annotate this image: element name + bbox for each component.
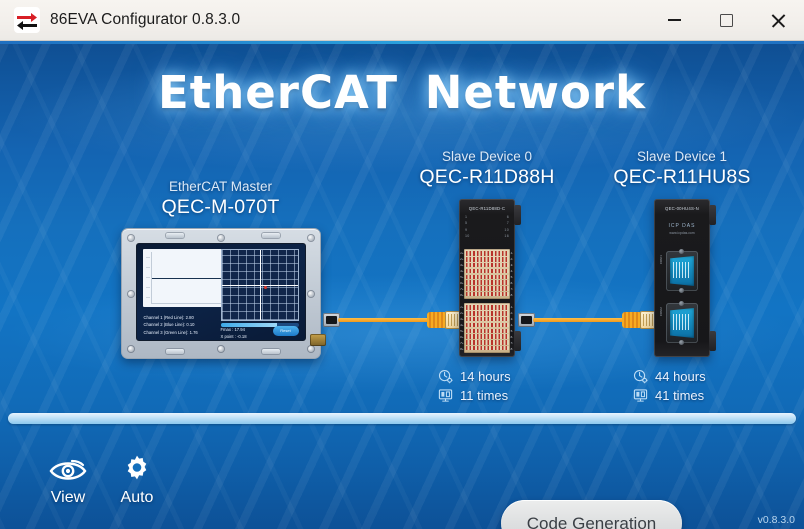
maximize-icon (720, 14, 733, 27)
count-value: 41 times (655, 386, 704, 405)
slave1-stats: 44 hours 41 times (597, 367, 767, 405)
slave0-model-label: QEC-R11D88H (402, 166, 572, 188)
grid-cursor-point (264, 286, 267, 289)
panel-screw (128, 291, 134, 297)
slave1-role-label: Slave Device 1 (597, 149, 767, 165)
device-node-master[interactable]: EtherCAT Master QEC-M-070T (118, 179, 323, 359)
app-window: 86EVA Configurator 0.8.3.0 EtherCAT Netw… (0, 0, 804, 529)
panel-screw (218, 346, 224, 352)
slave0-terminal-block-lower: 1+2+ 3+4+ 5+6+ 7+8+ 1-2- 3-4- 5-6- 7-8- (464, 303, 510, 353)
view-button-label: View (31, 489, 105, 507)
port-pins (673, 262, 691, 278)
slave1-serial-port-1: COM 1 (666, 251, 698, 291)
version-label: v0.8.3.0 (758, 514, 795, 526)
port-screw (679, 288, 684, 293)
slave1-port1-label: COM 1 (659, 255, 663, 264)
counter-display-icon (438, 388, 453, 403)
plot-tick (146, 287, 150, 288)
stat-row-uptime: 14 hours (438, 367, 572, 386)
terminal-left-labels: 1+2+ 3+4+ 5+6+ 7+8+ (460, 249, 464, 299)
channel-legend-row: Channel 2 (Blue Line): 0.10 (144, 321, 198, 329)
panel-mount-tab (262, 233, 280, 238)
master-model-label: QEC-M-070T (118, 196, 323, 218)
panel-mount-tab (166, 349, 184, 354)
port-screw (679, 249, 684, 254)
panel-screw (308, 291, 314, 297)
panel-screw (308, 346, 314, 352)
slave1-caption: Slave Device 1 QEC-R11HU8S (597, 149, 767, 188)
clock-gear-icon (633, 369, 648, 384)
panel-mount-tab (166, 233, 184, 238)
slave1-module[interactable]: QEC-00HU4S-N ICP DAS www.icpdas.com COM … (654, 199, 710, 357)
gear-icon (100, 452, 174, 486)
channel-legend-row: Channel 3 (Green Line): 1.76 (144, 329, 198, 337)
network-canvas[interactable]: EtherCAT Network EtherCAT Master QEC-M-0… (0, 44, 804, 529)
two-arrows-icon (14, 7, 40, 33)
stat-row-uptime: 44 hours (633, 367, 767, 386)
slave0-role-label: Slave Device 0 (402, 149, 572, 165)
plot-tick (146, 277, 150, 278)
minimize-icon (668, 19, 681, 21)
view-button[interactable]: View (31, 452, 105, 507)
device-node-slave-1[interactable]: Slave Device 1 QEC-R11HU8S QEC-00HU4S-N … (597, 149, 767, 405)
count-value: 11 times (460, 386, 508, 405)
slave1-model-label: QEC-R11HU8S (597, 166, 767, 188)
screen-xy-grid (221, 249, 299, 321)
title-bar: 86EVA Configurator 0.8.3.0 (0, 0, 804, 41)
screen-channel-legend: Channel 1 (Red Line): 2.80 Channel 2 (Bl… (144, 314, 198, 337)
panel-mount-tab (262, 349, 280, 354)
slave1-brand-label: ICP DAS (654, 223, 710, 229)
module-mount-ear (709, 205, 716, 225)
clock-gear-icon (438, 369, 453, 384)
slave0-io-number-map: 16 57 910 1016 (465, 214, 509, 239)
panel-screw (128, 235, 134, 241)
slave0-caption: Slave Device 0 QEC-R11D88H (402, 149, 572, 188)
module-mount-ear (709, 331, 716, 351)
port-screw (679, 301, 684, 306)
port-screw (679, 340, 684, 345)
module-mount-ear (514, 331, 521, 351)
panel-screw (218, 235, 224, 241)
horizontal-scrollbar[interactable] (8, 413, 796, 424)
plot-tick (146, 267, 150, 268)
close-icon (770, 12, 787, 29)
terminal-left-labels: 1+2+ 3+4+ 5+6+ 7+8+ (460, 303, 464, 353)
grid-vertical-axis (260, 250, 261, 320)
master-ethernet-port (310, 334, 326, 346)
uptime-value: 44 hours (655, 367, 706, 386)
plot-tick (146, 257, 150, 258)
banner: EtherCAT Network (0, 66, 804, 119)
master-caption: EtherCAT Master QEC-M-070T (118, 179, 323, 218)
terminal-right-labels: 1-2- 3-4- 5-6- 7-8- (511, 249, 515, 299)
master-hmi-panel[interactable]: Channel 1 (Red Line): 2.80 Channel 2 (Bl… (121, 228, 321, 359)
slave0-stats: 14 hours 11 times (402, 367, 572, 405)
slave1-port2-label: COM 2 (659, 307, 663, 316)
scrollbar-thumb[interactable] (8, 413, 796, 424)
minimize-button[interactable] (648, 0, 700, 41)
code-generation-button[interactable]: Code Generation (501, 500, 682, 529)
master-role-label: EtherCAT Master (118, 179, 323, 195)
panel-screw (308, 235, 314, 241)
panel-screw (128, 346, 134, 352)
stat-row-count: 11 times (438, 386, 572, 405)
page-title: EtherCAT Network (158, 66, 646, 119)
slave0-terminal-block-upper: 1+2+ 3+4+ 5+6+ 7+8+ 1-2- 3-4- 5-6- 7-8- (464, 249, 510, 299)
port-pins (673, 314, 691, 330)
device-node-slave-0[interactable]: Slave Device 0 QEC-R11D88H QEC-R11D88D-C… (402, 149, 572, 405)
screen-reset-button[interactable]: Reset (273, 326, 299, 336)
uptime-value: 14 hours (460, 367, 511, 386)
slave0-module-label: QEC-R11D88D-C (459, 206, 515, 211)
counter-display-icon (633, 388, 648, 403)
maximize-button[interactable] (700, 0, 752, 41)
channel-legend-row: Channel 1 (Red Line): 2.80 (144, 314, 198, 322)
readout-row: Y point : 0.03 (221, 340, 299, 341)
slave1-module-label: QEC-00HU4S-N (654, 206, 710, 211)
io-number-row: 1016 (465, 233, 509, 239)
slave0-module[interactable]: QEC-R11D88D-C 16 57 910 1016 1+2+ 3+4+ 5… (459, 199, 515, 357)
plot-tick (146, 297, 150, 298)
window-title: 86EVA Configurator 0.8.3.0 (50, 11, 240, 29)
slave1-serial-port-2: COM 2 (666, 303, 698, 343)
master-screen: Channel 1 (Red Line): 2.80 Channel 2 (Bl… (136, 243, 306, 341)
auto-button[interactable]: Auto (100, 452, 174, 507)
close-button[interactable] (752, 0, 804, 41)
module-mount-ear (514, 205, 521, 225)
stat-row-count: 41 times (633, 386, 767, 405)
terminal-right-labels: 1-2- 3-4- 5-6- 7-8- (511, 303, 515, 353)
auto-button-label: Auto (100, 489, 174, 507)
slave1-module-sub: www.icpdas.com (654, 231, 710, 235)
eye-icon (31, 452, 105, 486)
